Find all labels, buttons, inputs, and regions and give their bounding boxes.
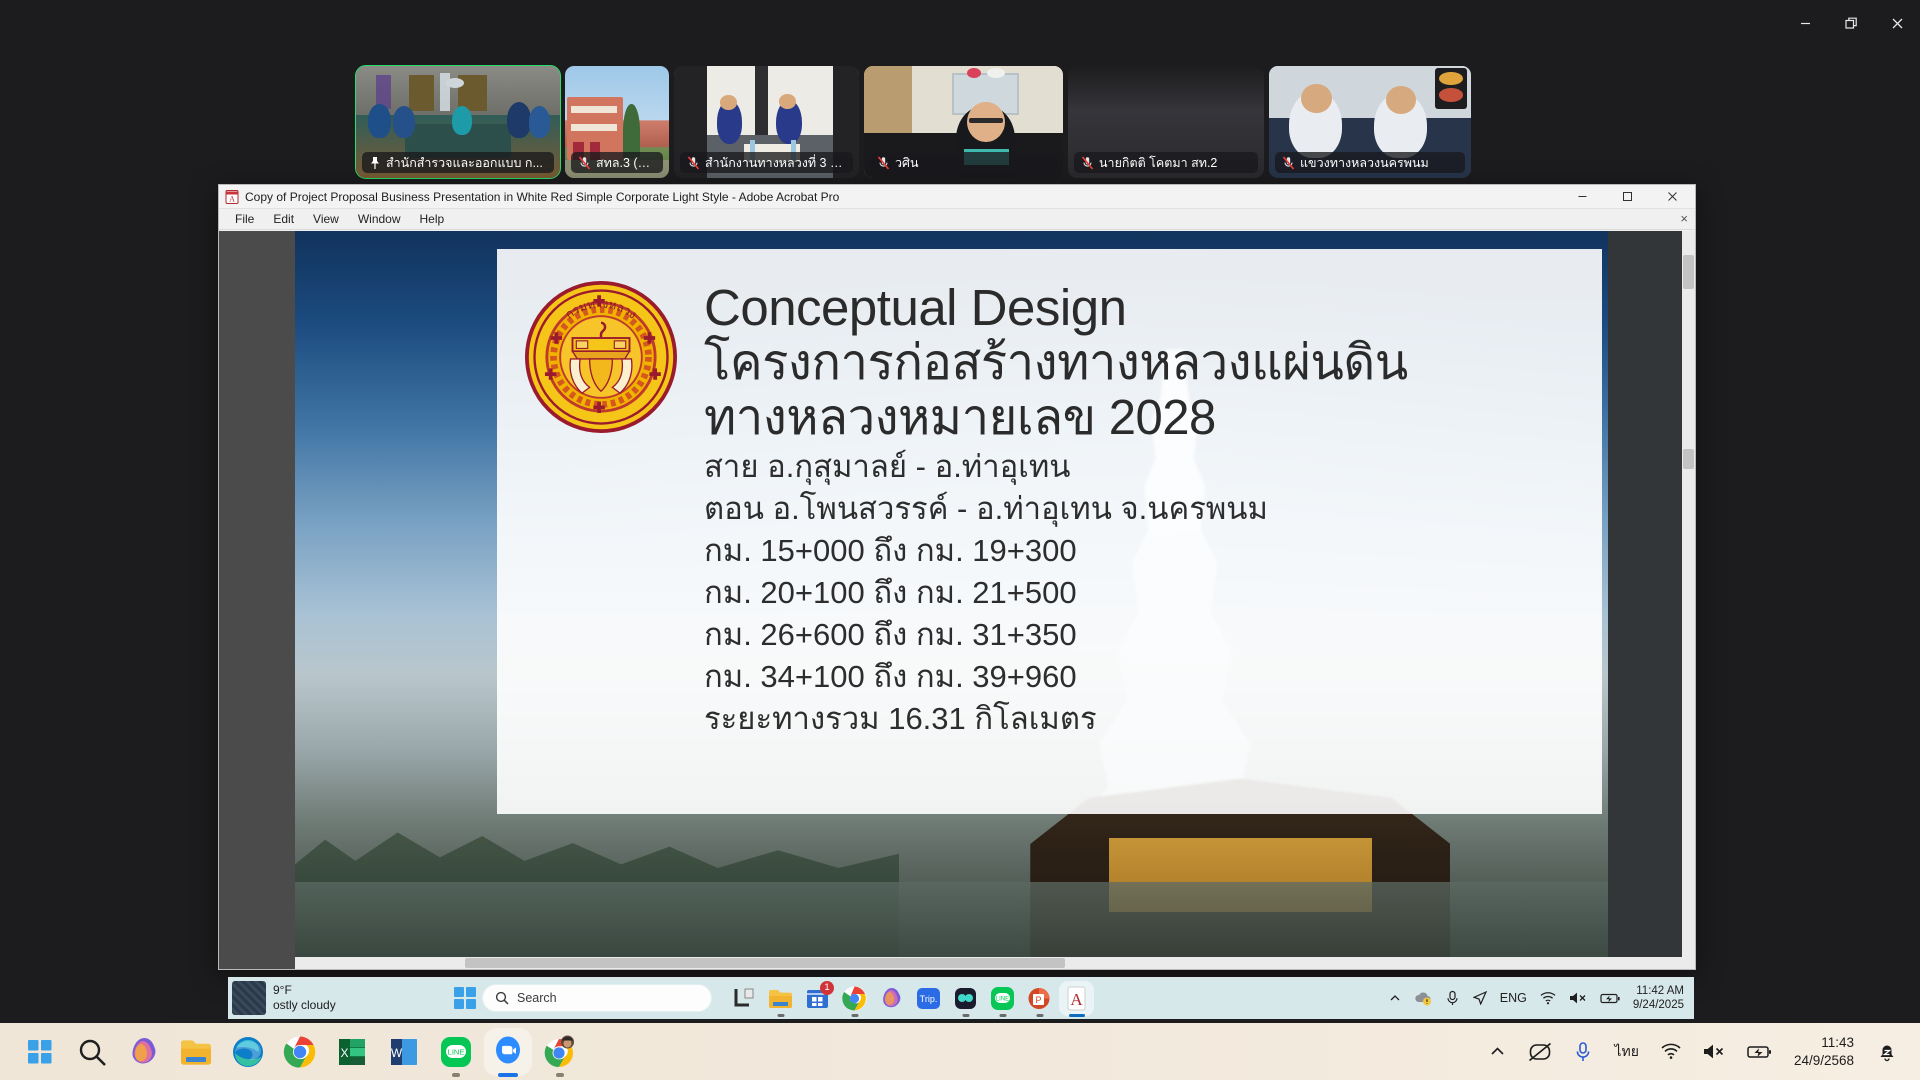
participant-name-2: สำนักงานทางหลวงที่ 3 (สกลน...: [705, 153, 846, 173]
svg-text:X: X: [340, 1046, 348, 1060]
touchpad-disabled-icon[interactable]: [1528, 1042, 1552, 1062]
remote-clock-date: 9/24/2025: [1633, 998, 1684, 1012]
slide-heading-thai-1: โครงการก่อสร้างทางหลวงแผ่นดิน: [704, 336, 1586, 391]
acrobat-title-text: Copy of Project Proposal Business Presen…: [245, 190, 839, 204]
participant-tile-3[interactable]: วศิน: [864, 66, 1063, 178]
wondershare-icon[interactable]: [952, 985, 979, 1012]
line-desktop-icon[interactable]: [730, 985, 757, 1012]
adobe-acrobat-icon[interactable]: A: [1063, 985, 1090, 1012]
store-badge-count: 1: [820, 981, 834, 995]
remote-clock[interactable]: 11:42 AM 9/24/2025: [1633, 984, 1684, 1012]
menu-item-help[interactable]: Help: [412, 211, 453, 227]
zoom-restore-button[interactable]: [1828, 0, 1874, 46]
battery-charging-icon[interactable]: [1600, 992, 1620, 1005]
acrobat-maximize-button[interactable]: [1605, 185, 1650, 209]
vertical-scroll-thumb[interactable]: [1683, 255, 1694, 289]
microsoft-excel-icon[interactable]: X: [334, 1034, 370, 1070]
document-horizontal-scrollbar[interactable]: [295, 957, 1682, 969]
participant-name-1: สทล.3 (NB.): [596, 153, 656, 173]
acrobat-minimize-button[interactable]: [1560, 185, 1605, 209]
start-button[interactable]: [22, 1034, 58, 1070]
pdf-page[interactable]: กรมทางหลวง: [295, 231, 1608, 969]
participant-label-3: วศิน: [870, 152, 1057, 173]
file-explorer-icon[interactable]: [767, 985, 794, 1012]
host-system-tray: ไทย 11:43 24/9/2568: [1489, 1034, 1920, 1070]
mic-muted-icon: [578, 156, 591, 170]
zoom-icon[interactable]: [490, 1034, 526, 1070]
remote-taskbar: 9°F ostly cloudy Search: [228, 977, 1694, 1019]
chevron-up-icon[interactable]: [1389, 992, 1401, 1004]
slide-heading-english: Conceptual Design: [704, 279, 1586, 336]
slide-line-4: กม. 26+600 ถึง กม. 31+350: [704, 614, 1586, 656]
slide-line-0: สาย อ.กุสุมาลย์ - อ.ท่าอุเทน: [704, 446, 1586, 488]
start-button[interactable]: [454, 987, 476, 1009]
search-icon: [495, 991, 509, 1005]
mic-muted-icon: [687, 156, 700, 170]
microphone-icon[interactable]: [1445, 990, 1460, 1006]
svg-text:A: A: [229, 194, 235, 203]
participant-label-1: สทล.3 (NB.): [571, 152, 663, 173]
chevron-up-icon[interactable]: [1489, 1043, 1506, 1060]
participant-tile-1[interactable]: สทล.3 (NB.): [565, 66, 669, 178]
svg-text:Trip.: Trip.: [920, 994, 938, 1004]
wifi-icon[interactable]: [1540, 991, 1556, 1005]
notifications-dnd-icon[interactable]: [1876, 1041, 1898, 1063]
powerpoint-icon[interactable]: P: [1026, 985, 1053, 1012]
host-clock-date: 24/9/2568: [1794, 1052, 1854, 1070]
svg-text:P: P: [1035, 995, 1041, 1005]
document-left-gutter: [219, 231, 295, 969]
slide-text-block: Conceptual Design โครงการก่อสร้างทางหลวง…: [704, 279, 1586, 740]
host-taskbar: X W LINE: [0, 1023, 1920, 1080]
participant-filmstrip: สำนักสำรวจและออกแบบ ก...: [356, 66, 1471, 178]
microsoft-word-icon[interactable]: W: [386, 1034, 422, 1070]
slide-heading-thai-2: ทางหลวงหมายเลข 2028: [704, 391, 1586, 446]
language-indicator[interactable]: ไทย: [1614, 1041, 1638, 1063]
participant-name-0: สำนักสำรวจและออกแบบ ก...: [386, 153, 543, 173]
svg-text:A: A: [1070, 990, 1083, 1009]
remote-system-tray: ENG 11:42 AM 9/24/2025: [1389, 984, 1694, 1012]
menu-item-edit[interactable]: Edit: [265, 211, 302, 227]
water-band: [295, 882, 1608, 969]
google-chrome-profile-icon[interactable]: [542, 1034, 578, 1070]
weather-widget[interactable]: 9°F ostly cloudy: [228, 981, 454, 1015]
weather-icon: [232, 981, 266, 1015]
remote-taskbar-apps: 1: [730, 985, 1090, 1012]
slide-title-card: กรมทางหลวง: [497, 249, 1602, 814]
zoom-title-bar: [0, 0, 1920, 46]
trip-icon[interactable]: Trip.: [915, 985, 942, 1012]
participant-name-5: แขวงทางหลวงนครพนม: [1300, 153, 1429, 173]
svg-text:LINE: LINE: [996, 996, 1009, 1002]
google-chrome-icon[interactable]: [841, 985, 868, 1012]
acrobat-icon: A: [225, 190, 239, 204]
zoom-close-button[interactable]: [1874, 0, 1920, 46]
search-input[interactable]: Search: [482, 984, 712, 1012]
menu-item-file[interactable]: File: [227, 211, 262, 227]
microsoft-store-icon[interactable]: 1: [804, 985, 831, 1012]
document-tab-close-button[interactable]: ×: [1680, 211, 1688, 226]
svg-text:W: W: [391, 1046, 403, 1060]
menu-item-window[interactable]: Window: [350, 211, 409, 227]
mic-muted-icon: [877, 156, 890, 170]
microsoft-edge-icon[interactable]: [230, 1034, 266, 1070]
participant-label-4: นายกิตติ โคตมา สท.2: [1074, 152, 1258, 173]
slide-line-1: ตอน อ.โพนสวรรค์ - อ.ท่าอุเทน จ.นครพนม: [704, 488, 1586, 530]
slide-line-2: กม. 15+000 ถึง กม. 19+300: [704, 530, 1586, 572]
participant-tile-0[interactable]: สำนักสำรวจและออกแบบ ก...: [356, 66, 560, 178]
weather-description: ostly cloudy: [273, 998, 336, 1013]
participant-label-0: สำนักสำรวจและออกแบบ ก...: [362, 152, 554, 173]
volume-muted-icon[interactable]: [1703, 1043, 1725, 1060]
vertical-scroll-thumb-secondary[interactable]: [1683, 449, 1694, 469]
location-icon[interactable]: [1473, 991, 1487, 1005]
file-explorer-icon[interactable]: [178, 1034, 214, 1070]
copilot-icon[interactable]: [878, 985, 905, 1012]
search-placeholder: Search: [517, 991, 557, 1005]
host-clock-time: 11:43: [1794, 1034, 1854, 1052]
copilot-icon[interactable]: [126, 1034, 162, 1070]
svg-text:LINE: LINE: [448, 1047, 465, 1056]
pin-icon: [369, 156, 381, 170]
microphone-icon[interactable]: [1574, 1041, 1592, 1063]
horizontal-scroll-thumb[interactable]: [465, 958, 1065, 968]
host-clock[interactable]: 11:43 24/9/2568: [1794, 1034, 1854, 1070]
participant-name-4: นายกิตติ โคตมา สท.2: [1099, 153, 1217, 173]
participant-tile-5[interactable]: แขวงทางหลวงนครพนม: [1269, 66, 1471, 178]
volume-muted-icon[interactable]: [1569, 991, 1587, 1005]
participant-tile-4[interactable]: นายกิตติ โคตมา สท.2: [1068, 66, 1264, 178]
language-indicator[interactable]: ENG: [1500, 991, 1527, 1005]
battery-charging-icon[interactable]: [1747, 1044, 1772, 1060]
remote-clock-time: 11:42 AM: [1633, 984, 1684, 998]
adobe-acrobat-window: A Copy of Project Proposal Business Pres…: [218, 184, 1696, 970]
host-taskbar-apps: X W LINE: [0, 1034, 578, 1070]
zoom-minimize-button[interactable]: [1782, 0, 1828, 46]
onedrive-warning-icon[interactable]: [1414, 990, 1432, 1006]
search-icon[interactable]: [74, 1034, 110, 1070]
acrobat-menu-bar: File Edit View Window Help ×: [219, 209, 1695, 230]
line-icon[interactable]: LINE: [989, 985, 1016, 1012]
participant-tile-2[interactable]: สำนักงานทางหลวงที่ 3 (สกลน...: [674, 66, 859, 178]
participant-label-2: สำนักงานทางหลวงที่ 3 (สกลน...: [680, 152, 853, 173]
slide-line-6: ระยะทางรวม 16.31 กิโลเมตร: [704, 698, 1586, 740]
mic-muted-icon: [1081, 156, 1094, 170]
mic-muted-icon: [1282, 156, 1295, 170]
weather-temperature: 9°F: [273, 983, 336, 998]
document-vertical-scrollbar[interactable]: [1682, 231, 1695, 969]
acrobat-title-bar[interactable]: A Copy of Project Proposal Business Pres…: [219, 185, 1695, 209]
department-of-highways-emblem: กรมทางหลวง: [525, 281, 677, 433]
wifi-icon[interactable]: [1661, 1043, 1681, 1060]
participant-name-3: วศิน: [895, 153, 919, 173]
menu-item-view[interactable]: View: [305, 211, 347, 227]
slide-line-3: กม. 20+100 ถึง กม. 21+500: [704, 572, 1586, 614]
google-chrome-icon[interactable]: [282, 1034, 318, 1070]
acrobat-document-area: กรมทางหลวง: [219, 231, 1695, 969]
slide-line-5: กม. 34+100 ถึง กม. 39+960: [704, 656, 1586, 698]
acrobat-close-button[interactable]: [1650, 185, 1695, 209]
participant-label-5: แขวงทางหลวงนครพนม: [1275, 152, 1465, 173]
line-icon[interactable]: LINE: [438, 1034, 474, 1070]
